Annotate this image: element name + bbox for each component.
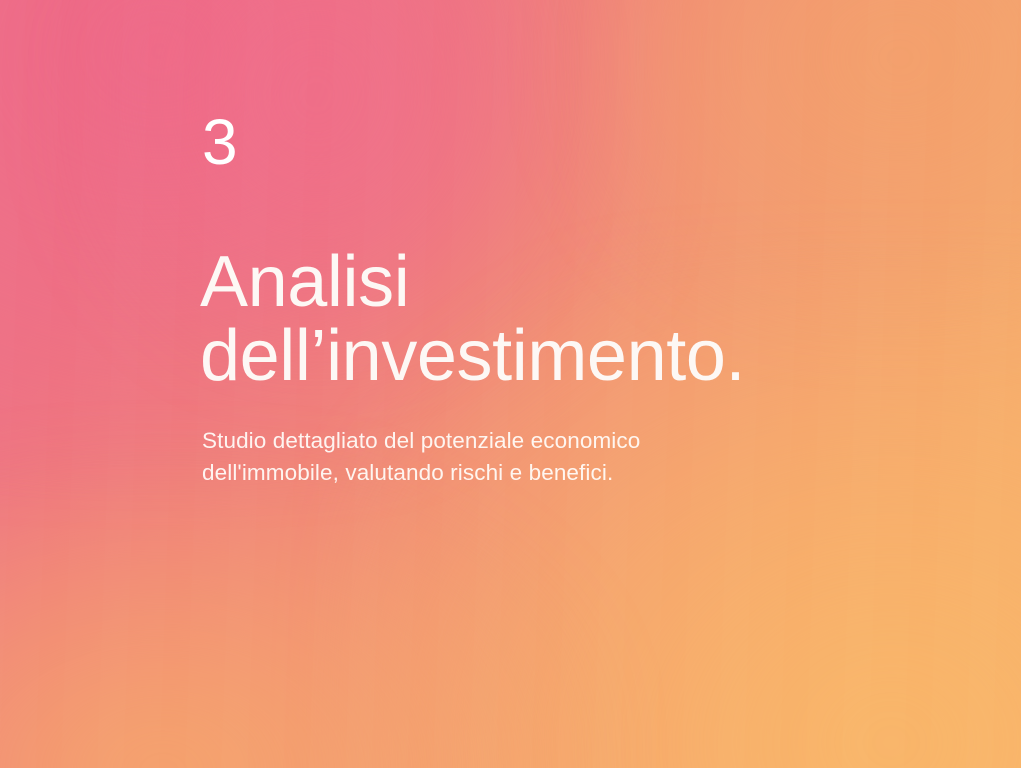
presentation-slide: 3 Analisi dell’investimento. Studio dett… bbox=[0, 0, 1021, 768]
slide-text-block: 3 Analisi dell’investimento. Studio dett… bbox=[202, 0, 922, 768]
slide-title: Analisi dell’investimento. bbox=[200, 245, 745, 393]
slide-subtitle: Studio dettagliato del potenziale econom… bbox=[202, 425, 640, 489]
section-number: 3 bbox=[202, 110, 238, 174]
